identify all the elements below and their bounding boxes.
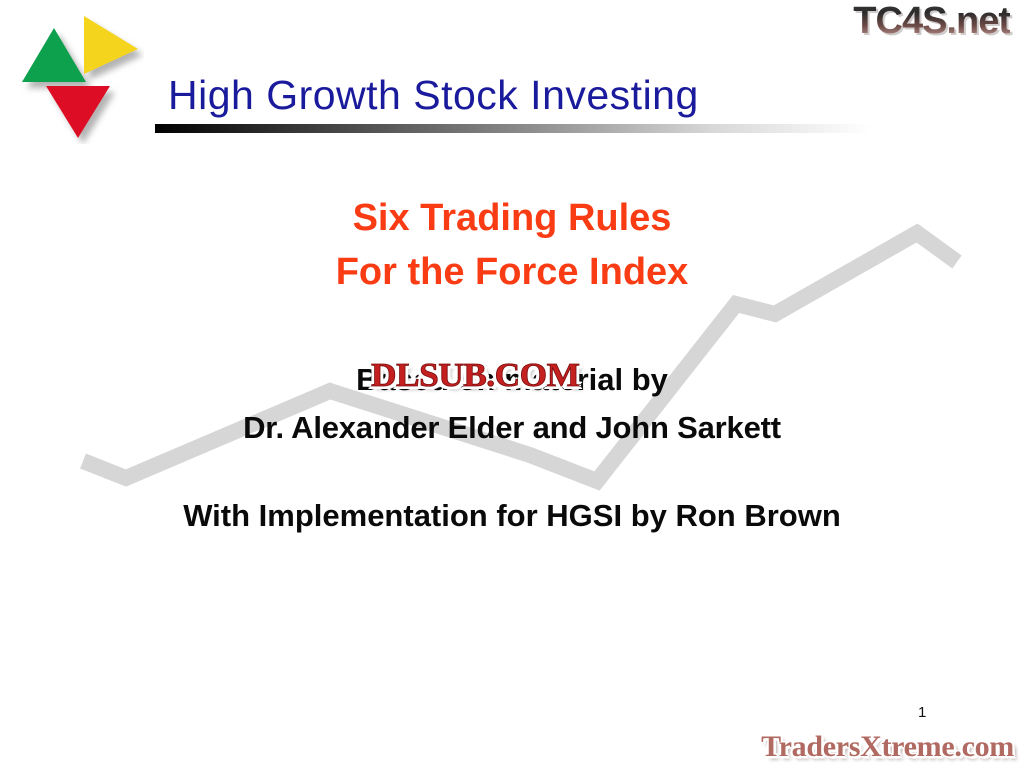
credit-line-2: Dr. Alexander Elder and John Sarkett	[0, 404, 1024, 452]
headline-line-2: For the Force Index	[0, 246, 1024, 300]
tc4s-triangles-logo	[8, 8, 144, 144]
headline: Six Trading Rules For the Force Index	[0, 192, 1024, 300]
presentation-slide: TC4S.net TC4S.net High Growth Stock Inve…	[0, 0, 1024, 768]
dlsub-watermark: DLSUB.COM	[371, 359, 579, 393]
green-up-triangle-icon	[22, 28, 86, 82]
headline-line-1: Six Trading Rules	[0, 192, 1024, 246]
footer-brand-logo: TradersXtreme.com	[761, 732, 1014, 762]
slide-title: High Growth Stock Investing	[168, 72, 699, 119]
red-down-triangle-icon	[46, 86, 110, 138]
title-gradient-rule	[155, 124, 871, 133]
yellow-right-triangle-icon	[84, 16, 138, 74]
brand-logo: TC4S.net	[853, 2, 1010, 40]
page-number: 1	[918, 704, 926, 721]
implementation-line: With Implementation for HGSI by Ron Brow…	[0, 498, 1024, 534]
